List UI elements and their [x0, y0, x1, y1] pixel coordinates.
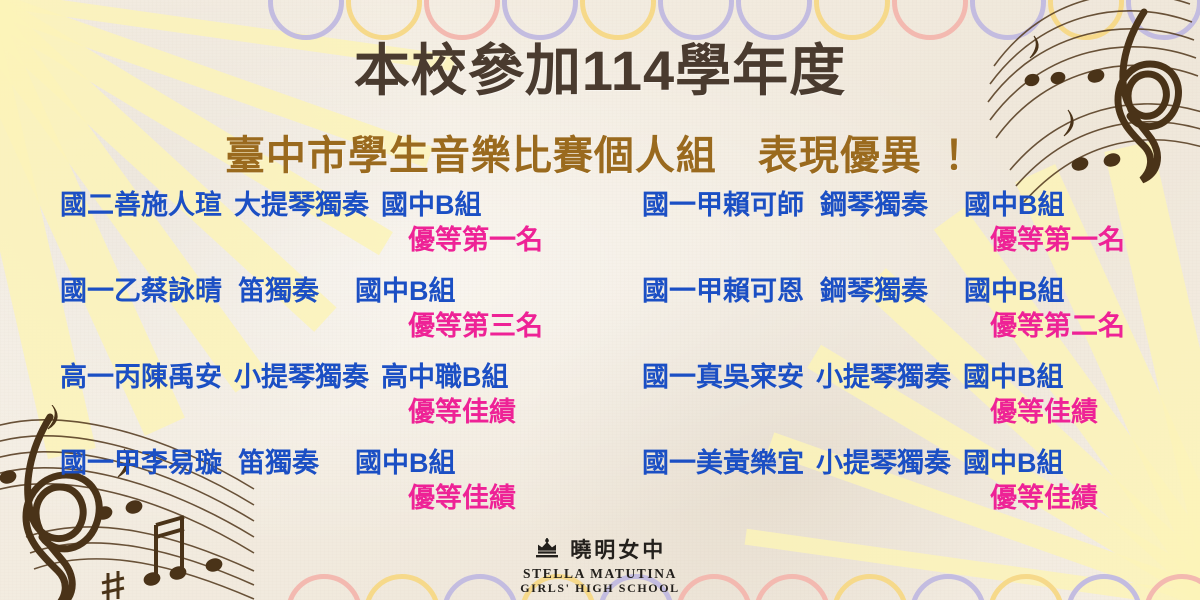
award-result: 優等佳績	[620, 483, 1160, 514]
award-entry: 國一美黃樂宜小提琴獨奏國中B組優等佳績	[620, 448, 1160, 534]
award-item: 小提琴獨奏	[816, 362, 951, 393]
award-student: 國一美黃樂宜	[642, 448, 804, 479]
award-entry: 國一甲賴可恩鋼琴獨奏國中B組優等第二名	[620, 276, 1160, 362]
school-name-chinese: 曉明女中	[570, 540, 666, 561]
award-result: 優等佳績	[40, 397, 580, 428]
award-result: 優等佳績	[620, 397, 1160, 428]
award-student: 國一甲賴可恩	[642, 276, 804, 307]
award-entry: 國一甲李易璇笛獨奏國中B組優等佳績	[40, 448, 580, 534]
award-group: 國中B組	[355, 448, 456, 479]
award-student: 國二善施人瑄	[60, 190, 222, 221]
award-list: 國二善施人瑄大提琴獨奏國中B組優等第一名國一甲賴可師鋼琴獨奏國中B組優等第一名國…	[40, 190, 1160, 534]
award-student: 高一丙陳禹安	[60, 362, 222, 393]
award-result: 優等第二名	[620, 311, 1160, 342]
award-result: 優等第一名	[40, 225, 580, 256]
award-student: 國一真吳宷安	[642, 362, 804, 393]
award-result: 優等佳績	[40, 483, 580, 514]
award-item: 笛獨奏	[238, 276, 319, 307]
award-result: 優等第一名	[620, 225, 1160, 256]
award-entry: 高一丙陳禹安小提琴獨奏高中職B組優等佳績	[40, 362, 580, 448]
award-group: 國中B組	[381, 190, 482, 221]
award-item: 鋼琴獨奏	[820, 190, 928, 221]
award-item: 鋼琴獨奏	[820, 276, 928, 307]
school-crest-icon	[534, 538, 560, 564]
award-result: 優等第三名	[40, 311, 580, 342]
school-name-english-line1: STELLA MATUTINA	[0, 567, 1200, 581]
award-item: 小提琴獨奏	[816, 448, 951, 479]
award-item: 小提琴獨奏	[234, 362, 369, 393]
award-entry: 國一乙蔡詠晴笛獨奏國中B組優等第三名	[40, 276, 580, 362]
award-entry: 國一真吳宷安小提琴獨奏國中B組優等佳績	[620, 362, 1160, 448]
award-group: 國中B組	[964, 276, 1065, 307]
award-entry: 國一甲賴可師鋼琴獨奏國中B組優等第一名	[620, 190, 1160, 276]
award-group: 高中職B組	[381, 362, 509, 393]
award-student: 國一甲賴可師	[642, 190, 804, 221]
award-student: 國一乙蔡詠晴	[60, 276, 222, 307]
award-entry: 國二善施人瑄大提琴獨奏國中B組優等第一名	[40, 190, 580, 276]
award-student: 國一甲李易璇	[60, 448, 222, 479]
page-title: 本校參加114學年度	[0, 26, 1200, 107]
poster-canvas: 本校參加114學年度 臺中市學生音樂比賽個人組 表現優異 ！ 國二善施人瑄大提琴…	[0, 0, 1200, 600]
award-group: 國中B組	[963, 448, 1064, 479]
school-logo: 曉明女中 STELLA MATUTINA GIRLS' HIGH SCHOOL	[0, 538, 1200, 595]
school-name-english-line2: GIRLS' HIGH SCHOOL	[0, 582, 1200, 594]
award-group: 國中B組	[355, 276, 456, 307]
pastel-rings-top	[0, 0, 1200, 24]
award-item: 笛獨奏	[238, 448, 319, 479]
award-group: 國中B組	[963, 362, 1064, 393]
award-item: 大提琴獨奏	[234, 190, 369, 221]
award-group: 國中B組	[964, 190, 1065, 221]
page-subtitle: 臺中市學生音樂比賽個人組 表現優異 ！	[0, 123, 1200, 181]
